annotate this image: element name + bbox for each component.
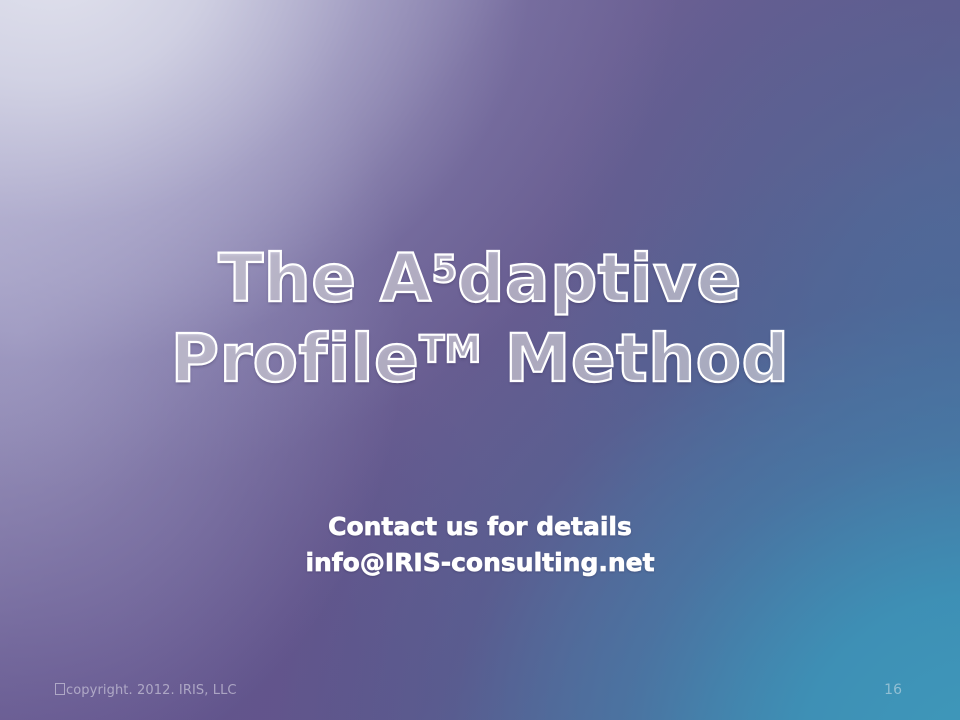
title-superscript-five: 5 [432, 248, 458, 291]
title-line-1-text-tail: daptive [457, 240, 741, 317]
contact-prompt: Contact us for details [0, 512, 960, 542]
title-line-1: The A5daptive [0, 246, 960, 312]
missing-glyph-box-icon [55, 683, 65, 695]
title-line-2-text-tail: Method [481, 320, 789, 397]
title-superscript-trademark: TM [419, 328, 481, 371]
contact-block: Contact us for details info@IRIS-consult… [0, 512, 960, 577]
title-line-2-text: Profile [171, 320, 420, 397]
slide-page-number: 16 [884, 682, 902, 698]
contact-email[interactable]: info@IRIS-consulting.net [0, 548, 960, 578]
title-line-1-text: The A [218, 240, 431, 317]
presentation-slide: The A5daptive ProfileTM Method Contact u… [0, 0, 960, 720]
footer-copyright-text: copyright. 2012. IRIS, LLC [66, 683, 237, 698]
title-line-2: ProfileTM Method [0, 326, 960, 392]
slide-title: The A5daptive ProfileTM Method [0, 246, 960, 392]
footer-copyright: copyright. 2012. IRIS, LLC [55, 682, 237, 698]
